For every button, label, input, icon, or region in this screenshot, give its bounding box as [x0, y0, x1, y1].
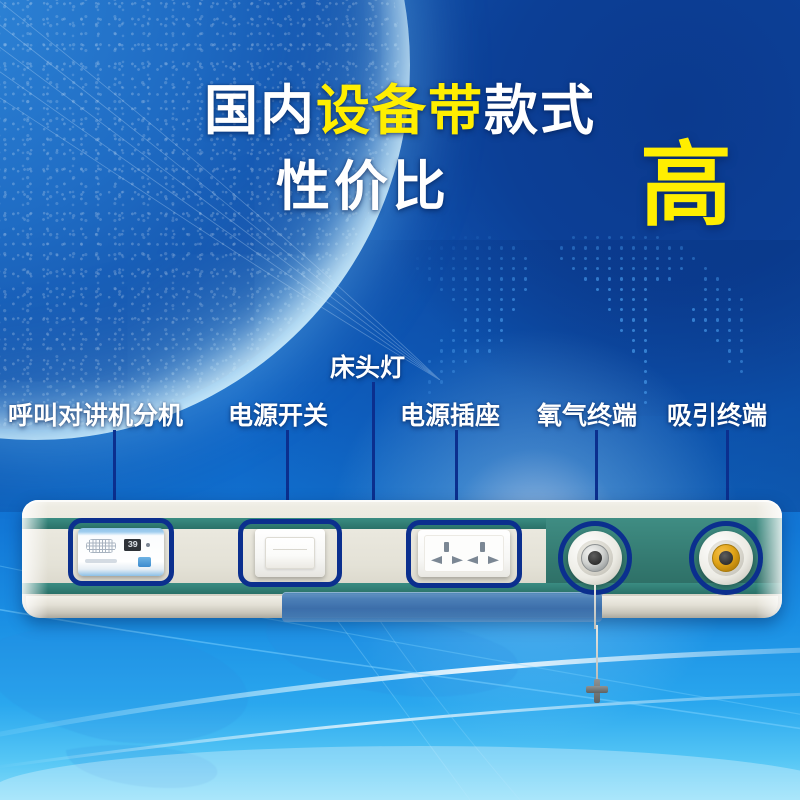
callout-label-switch: 电源开关 — [228, 404, 328, 429]
map-dot — [632, 277, 635, 280]
map-dot — [464, 267, 467, 270]
nurse-call-intercom[interactable]: 39 — [78, 528, 164, 576]
map-dot — [428, 277, 431, 280]
map-dot — [452, 267, 455, 270]
map-dot — [464, 277, 467, 280]
map-dot — [488, 277, 491, 280]
socket-outlet-1[interactable] — [431, 542, 463, 568]
map-dot — [728, 318, 731, 321]
map-dot — [644, 339, 647, 342]
map-dot — [452, 339, 455, 342]
map-dot — [620, 329, 623, 332]
map-dot — [632, 339, 635, 342]
map-dot — [656, 267, 659, 270]
map-dot — [500, 277, 503, 280]
map-dot — [728, 339, 731, 342]
map-dot — [668, 277, 671, 280]
terminal-port-icon — [719, 551, 733, 565]
map-dot — [608, 288, 611, 291]
map-dot — [608, 267, 611, 270]
map-dot — [620, 277, 623, 280]
headline-part-1: 国内 — [204, 81, 316, 141]
map-dot — [728, 308, 731, 311]
map-dot — [632, 329, 635, 332]
map-dot — [644, 298, 647, 301]
map-dot — [476, 298, 479, 301]
map-dot — [740, 298, 743, 301]
map-dot — [464, 329, 467, 332]
switch-rocker[interactable] — [265, 537, 315, 569]
map-dot — [740, 329, 743, 332]
map-dot — [704, 288, 707, 291]
map-dot — [716, 308, 719, 311]
intercom-call-button[interactable] — [138, 557, 151, 567]
map-dot — [452, 288, 455, 291]
map-dot — [476, 339, 479, 342]
map-dot — [428, 267, 431, 270]
callout-label-bedlight: 床头灯 — [330, 356, 405, 381]
oxygen-cord — [594, 585, 596, 629]
hook-horizontal-bar — [586, 686, 608, 693]
map-dot — [488, 339, 491, 342]
map-dot — [632, 318, 635, 321]
socket-pin-right-icon — [488, 556, 499, 564]
map-dot — [740, 339, 743, 342]
socket-pin-vertical-icon — [444, 542, 449, 552]
map-dot — [704, 277, 707, 280]
map-dot — [728, 298, 731, 301]
callout-label-group: 呼叫对讲机分机电源开关床头灯电源插座氧气终端吸引终端 — [0, 352, 800, 462]
map-dot — [476, 277, 479, 280]
map-dot — [512, 308, 515, 311]
callout-leader-socket — [455, 430, 458, 502]
suction-terminal[interactable] — [699, 531, 753, 585]
socket-pin-right-icon — [452, 556, 463, 564]
map-dot — [620, 298, 623, 301]
map-dot — [704, 318, 707, 321]
map-dot — [716, 298, 719, 301]
map-dot — [632, 288, 635, 291]
panel-blue-rail — [282, 592, 602, 622]
map-dot — [608, 298, 611, 301]
map-dot — [680, 267, 683, 270]
map-dot — [704, 308, 707, 311]
map-dot — [704, 298, 707, 301]
map-dot — [572, 267, 575, 270]
intercom-display: 39 — [124, 539, 141, 551]
callout-label-suction: 吸引终端 — [667, 404, 767, 429]
map-dot — [524, 267, 527, 270]
map-dot — [488, 267, 491, 270]
map-dot — [716, 288, 719, 291]
map-dot — [512, 267, 515, 270]
map-dot — [476, 267, 479, 270]
headline-part-2: 设备带 — [316, 81, 484, 141]
map-dot — [440, 339, 443, 342]
map-dot — [716, 339, 719, 342]
speaker-grille-icon — [86, 539, 116, 553]
map-dot — [500, 339, 503, 342]
power-light-switch[interactable] — [255, 529, 325, 577]
map-dot — [584, 267, 587, 270]
cross-hook-icon — [586, 679, 608, 703]
socket-pin-left-icon — [431, 556, 442, 564]
map-dot — [608, 277, 611, 280]
map-dot — [740, 318, 743, 321]
map-dot — [716, 329, 719, 332]
map-dot — [524, 288, 527, 291]
map-dot — [464, 318, 467, 321]
map-dot — [500, 329, 503, 332]
map-dot — [596, 288, 599, 291]
headline-emphasis-char: 高 — [640, 140, 732, 232]
map-dot — [500, 318, 503, 321]
map-dot — [488, 318, 491, 321]
map-dot — [620, 308, 623, 311]
map-dot — [416, 267, 419, 270]
map-dot — [440, 267, 443, 270]
map-dot — [632, 308, 635, 311]
map-dot — [476, 308, 479, 311]
map-dot — [644, 277, 647, 280]
map-dot — [488, 298, 491, 301]
headline-line-1: 国内设备带款式 — [0, 84, 800, 138]
map-dot — [512, 277, 515, 280]
map-dot — [488, 308, 491, 311]
map-dot — [644, 288, 647, 291]
map-dot — [464, 288, 467, 291]
map-dot — [668, 267, 671, 270]
map-dot — [524, 277, 527, 280]
callout-leader-switch — [286, 430, 289, 502]
map-dot — [704, 329, 707, 332]
intercom-mic-slot — [85, 559, 117, 563]
map-dot — [584, 277, 587, 280]
map-dot — [464, 308, 467, 311]
headline-block: 国内设备带款式 性价比 高 — [0, 0, 800, 260]
map-dot — [464, 298, 467, 301]
map-dot — [644, 308, 647, 311]
map-dot — [644, 318, 647, 321]
map-dot — [716, 277, 719, 280]
map-dot — [728, 329, 731, 332]
map-dot — [464, 339, 467, 342]
map-dot — [704, 267, 707, 270]
map-dot — [440, 288, 443, 291]
map-dot — [452, 329, 455, 332]
map-dot — [608, 308, 611, 311]
terminal-port-icon — [588, 551, 602, 565]
map-dot — [452, 298, 455, 301]
socket-pin-vertical-icon — [480, 542, 485, 552]
map-dot — [488, 288, 491, 291]
map-dot — [476, 318, 479, 321]
socket-faceplate — [424, 535, 504, 572]
callout-label-intercom: 呼叫对讲机分机 — [8, 404, 183, 429]
map-dot — [692, 308, 695, 311]
callout-leader-bedlight — [372, 382, 375, 504]
map-dot — [476, 288, 479, 291]
map-dot — [452, 277, 455, 280]
headline-subtext: 性价比 — [276, 157, 450, 217]
socket-outlet-2[interactable] — [467, 542, 499, 568]
map-dot — [440, 277, 443, 280]
socket-pin-left-icon — [467, 556, 478, 564]
map-dot — [632, 267, 635, 270]
status-led-icon — [146, 543, 150, 547]
map-dot — [500, 308, 503, 311]
map-dot — [500, 288, 503, 291]
callout-label-oxygen: 氧气终端 — [537, 404, 637, 429]
callout-leader-oxygen — [595, 430, 598, 502]
headline-part-3: 款式 — [484, 81, 596, 141]
map-dot — [656, 277, 659, 280]
map-dot — [644, 329, 647, 332]
map-dot — [512, 288, 515, 291]
switch-seam-line — [273, 549, 307, 550]
map-dot — [620, 318, 623, 321]
callout-leader-suction — [726, 430, 729, 502]
map-dot — [728, 288, 731, 291]
map-dot — [596, 267, 599, 270]
map-dot — [488, 329, 491, 332]
poster-canvas: 国内设备带款式 性价比 高 呼叫对讲机分机电源开关床头灯电源插座氧气终端吸引终端… — [0, 0, 800, 800]
map-dot — [620, 267, 623, 270]
oxygen-terminal[interactable] — [568, 531, 622, 585]
map-dot — [692, 318, 695, 321]
map-dot — [740, 308, 743, 311]
map-dot — [620, 288, 623, 291]
map-dot — [716, 318, 719, 321]
map-dot — [500, 267, 503, 270]
map-dot — [500, 298, 503, 301]
hanging-cord — [596, 625, 598, 683]
map-dot — [512, 298, 515, 301]
map-dot — [644, 267, 647, 270]
callout-label-socket: 电源插座 — [400, 404, 500, 429]
map-dot — [596, 277, 599, 280]
power-socket-outlet[interactable] — [418, 530, 510, 577]
callout-leader-intercom — [113, 430, 116, 502]
map-dot — [632, 298, 635, 301]
map-dot — [476, 329, 479, 332]
